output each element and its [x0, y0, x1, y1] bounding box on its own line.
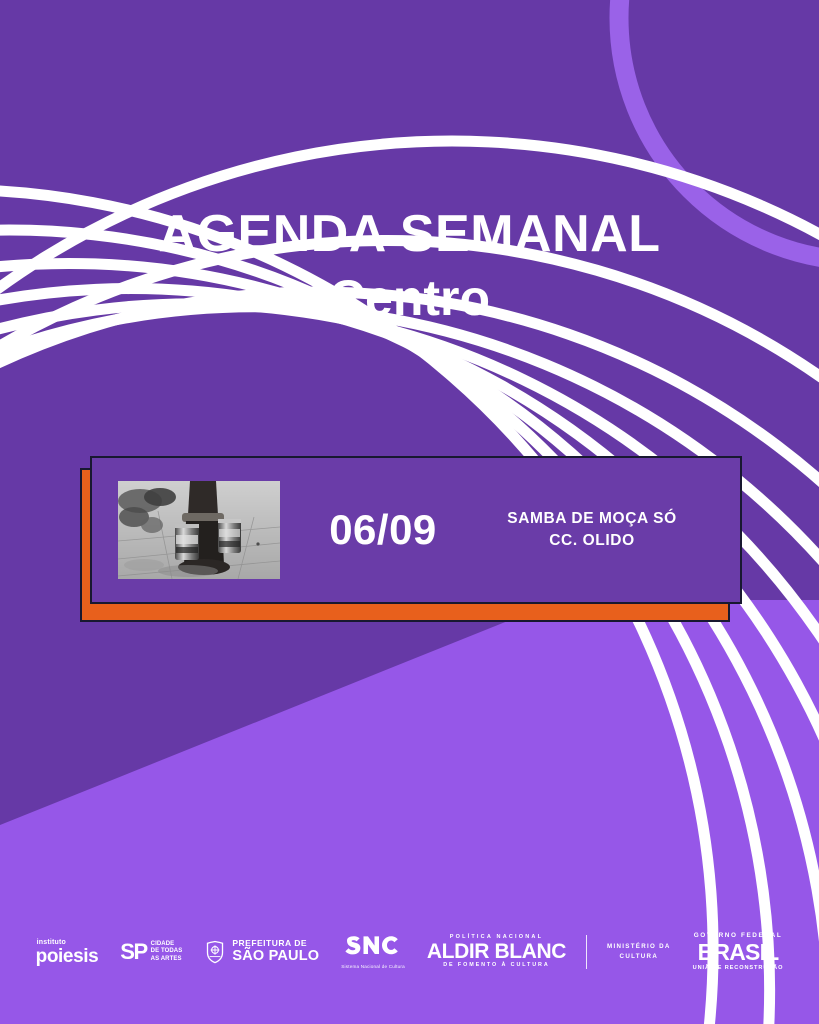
logo-prefeitura-text: PREFEITURA DE SÃO PAULO [232, 939, 319, 965]
footer-logo-bar: instituto poiesis SP CIDADE DE TODAS AS … [0, 922, 819, 982]
logo-prefeitura-line2: SÃO PAULO [232, 949, 319, 965]
logo-sp-line1: CIDADE [151, 941, 183, 948]
logo-brasil-bottom: UNIÃO E RECONSTRUÇÃO [693, 964, 784, 972]
logo-instituto-poiesis: instituto poiesis [25, 929, 110, 975]
event-card-body[interactable]: 06/09 SAMBA DE MOÇA SÓ CC. OLIDO [90, 456, 742, 604]
event-info: SAMBA DE MOÇA SÓ CC. OLIDO [478, 508, 740, 553]
logo-sp-cidade: SP CIDADE DE TODAS AS ARTES [109, 929, 193, 975]
event-venue: CC. OLIDO [478, 530, 706, 552]
logo-sp-line2: DE TODAS [151, 948, 183, 955]
logo-sp-tagline: CIDADE DE TODAS AS ARTES [151, 941, 183, 963]
logo-ministerio-cultura: MINISTÉRIO DA CULTURA [596, 929, 682, 975]
page-title: AGENDA SEMANAL [0, 206, 819, 262]
logo-sp-line3: AS ARTES [151, 956, 183, 963]
logo-prefeitura-sao-paulo: PREFEITURA DE SÃO PAULO [193, 929, 330, 975]
logo-brasil-wordmark: BRASIL [698, 940, 779, 964]
logo-sp-mark: SP [120, 941, 146, 963]
logo-aldir-bottom: DE FOMENTO À CULTURA [443, 962, 549, 970]
poster-canvas: AGENDA SEMANAL Centro [0, 0, 819, 1024]
event-thumbnail [118, 481, 280, 579]
logo-poiesis-wordmark: poiesis [36, 947, 99, 966]
logo-ministerio-line1: MINISTÉRIO DA [607, 942, 671, 952]
coat-of-arms-icon [204, 940, 226, 964]
logo-poiesis-small: instituto [37, 939, 66, 946]
event-date: 06/09 [288, 506, 478, 554]
headline-block: AGENDA SEMANAL Centro [0, 206, 819, 326]
logo-snc-subtitle: Sistema Nacional de Cultura [341, 965, 405, 970]
logo-snc-mark [344, 934, 402, 963]
event-title: SAMBA DE MOÇA SÓ [478, 508, 706, 530]
logo-snc: Sistema Nacional de Cultura [330, 929, 416, 975]
logo-governo-federal-brasil: GOVERNO FEDERAL BRASIL UNIÃO E RECONSTRU… [682, 929, 795, 975]
footer-divider [586, 935, 587, 969]
page-subtitle: Centro [0, 270, 819, 326]
logo-aldir-blanc: POLÍTICA NACIONAL ALDIR BLANC DE FOMENTO… [416, 929, 577, 975]
event-card[interactable]: 06/09 SAMBA DE MOÇA SÓ CC. OLIDO [80, 456, 742, 622]
logo-ministerio-line2: CULTURA [620, 952, 659, 962]
logo-aldir-wordmark: ALDIR BLANC [427, 941, 566, 962]
